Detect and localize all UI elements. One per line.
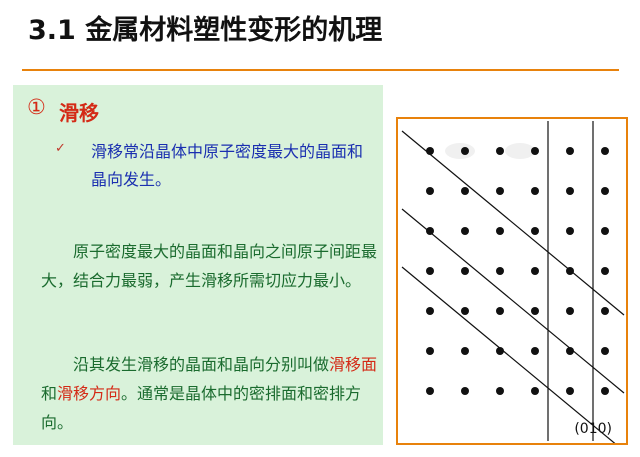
check-icon: ✓ — [55, 141, 66, 156]
paragraph-three-part-1: 沿其发生滑移的晶面和晶向分别叫做 — [73, 355, 329, 374]
bullet-number: ① — [27, 97, 46, 118]
term-slip-plane: 滑移面 — [329, 355, 377, 374]
term-slip-direction: 滑移方向 — [57, 384, 121, 403]
lattice-diagram-svg — [398, 119, 626, 443]
page-title: 3.1 金属材料塑性变形的机理 — [28, 8, 382, 47]
paragraph-three-part-2: 和 — [41, 384, 57, 403]
crystal-lattice-figure: (010) — [396, 117, 628, 445]
figure-caption: (010) — [574, 421, 612, 437]
paragraph-three: 沿其发生滑移的晶面和晶向分别叫做滑移面和滑移方向。通常是晶体中的密排面和密排方向… — [41, 350, 381, 437]
slide-root: 3.1 金属材料塑性变形的机理 ① 滑移 ✓ 滑移常沿晶体中原子密度最大的晶面和… — [0, 0, 640, 457]
title-divider — [22, 69, 619, 71]
section-heading: 滑移 — [59, 97, 99, 126]
paragraph-one: 滑移常沿晶体中原子密度最大的晶面和晶向发生。 — [91, 138, 371, 194]
paragraph-two: 原子密度最大的晶面和晶向之间原子间距最大，结合力最弱，产生滑移所需切应力最小。 — [41, 237, 377, 295]
content-panel: ① 滑移 ✓ 滑移常沿晶体中原子密度最大的晶面和晶向发生。 原子密度最大的晶面和… — [13, 85, 383, 445]
